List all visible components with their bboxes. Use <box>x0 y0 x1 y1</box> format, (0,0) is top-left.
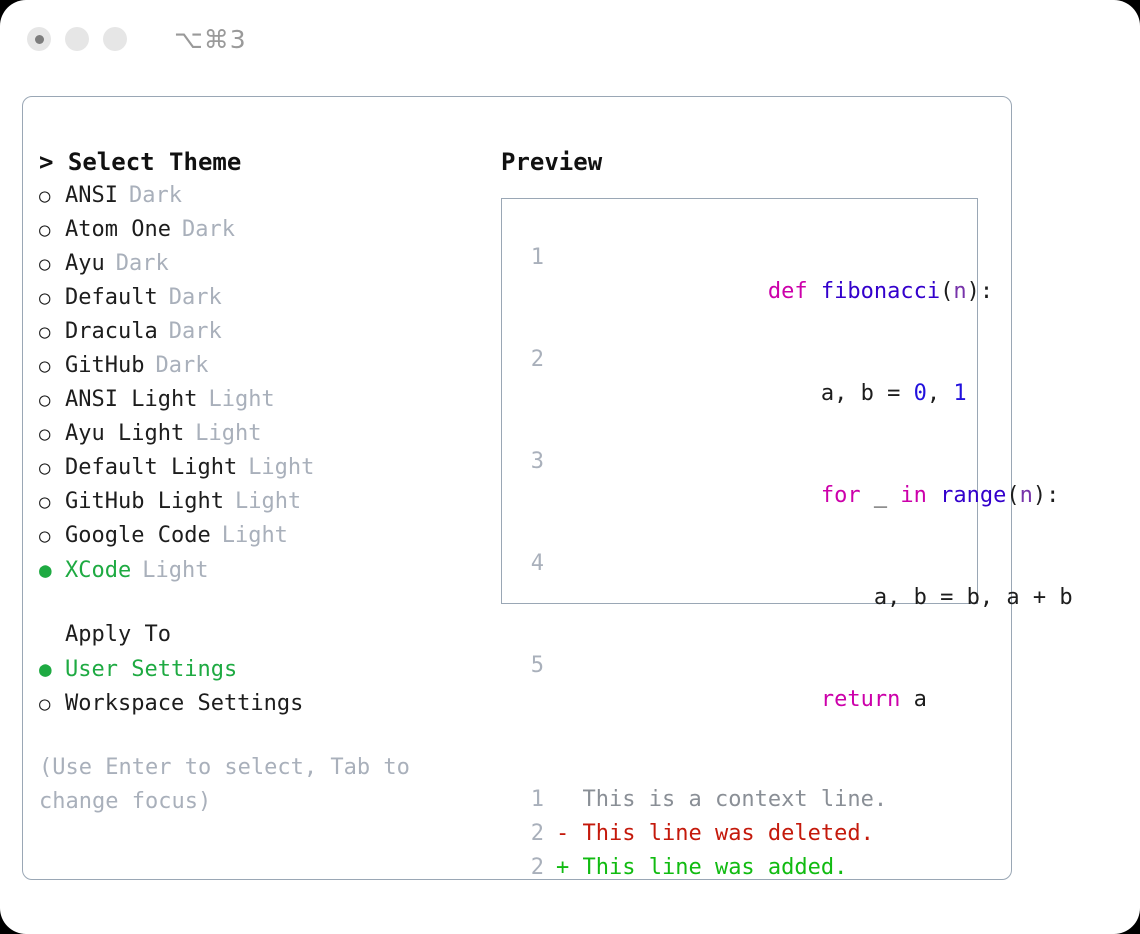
code-preview: 1 def fibonacci(n): 2 a, b = 0, 1 <box>516 241 969 885</box>
line-number: 5 <box>516 649 544 683</box>
preview-spacer <box>516 751 969 783</box>
theme-option-xcode[interactable]: ● XCode Light <box>39 553 489 588</box>
theme-option-ansi[interactable]: ○ ANSI Dark <box>39 179 489 213</box>
code-token: 1 <box>953 381 966 406</box>
theme-category: Dark <box>116 247 169 281</box>
radio-icon: ○ <box>39 519 65 553</box>
theme-name: Atom One <box>65 213 171 247</box>
theme-category: Dark <box>182 213 235 247</box>
code-token: in <box>900 483 927 508</box>
code-token: _ <box>861 483 901 508</box>
radio-icon: ○ <box>39 315 65 349</box>
apply-to-option-user-settings[interactable]: ● User Settings <box>39 652 489 687</box>
theme-option-github-light[interactable]: ○ GitHub Light Light <box>39 485 489 519</box>
theme-name: Dracula <box>65 315 158 349</box>
radio-icon: ○ <box>39 451 65 485</box>
app-window: ⌥⌘3 > Select Theme ○ ANSI Dark ○ Atom On… <box>0 0 1140 934</box>
radio-icon: ○ <box>39 349 65 383</box>
radio-icon: ○ <box>39 247 65 281</box>
theme-category: Light <box>235 485 301 519</box>
line-number: 4 <box>516 547 544 581</box>
theme-category: Light <box>195 417 261 451</box>
code-line: 5 return a <box>516 649 969 751</box>
theme-name: XCode <box>65 554 131 588</box>
theme-category: Light <box>222 519 288 553</box>
apply-to-option-workspace-settings[interactable]: ○ Workspace Settings <box>39 687 489 721</box>
code-token <box>927 483 940 508</box>
theme-name: ANSI <box>65 179 118 213</box>
code-line: 3 for _ in range(n): <box>516 445 969 547</box>
theme-category: Dark <box>129 179 182 213</box>
theme-name: Default <box>65 281 158 315</box>
radio-icon: ○ <box>39 417 65 451</box>
code-token: fibonacci <box>821 279 940 304</box>
code-token: a <box>900 687 927 712</box>
radio-icon: ○ <box>39 687 65 721</box>
main-panel: > Select Theme ○ ANSI Dark ○ Atom One Da… <box>22 96 1012 880</box>
apply-to-list: ● User Settings ○ Workspace Settings <box>39 652 489 721</box>
code-token: ( <box>940 279 953 304</box>
code-line: 2 a, b = 0, 1 <box>516 343 969 445</box>
theme-option-atom-one[interactable]: ○ Atom One Dark <box>39 213 489 247</box>
radio-selected-icon: ● <box>39 553 65 587</box>
theme-category: Light <box>142 554 208 588</box>
code-token: n <box>1020 483 1033 508</box>
diff-text: This is a context line. <box>569 787 887 812</box>
diff-line-deleted: 2 - This line was deleted. <box>516 817 969 851</box>
theme-list: ○ ANSI Dark ○ Atom One Dark ○ Ayu Dark <box>39 179 489 588</box>
preview-column: Preview 1 def fibonacci(n): 2 <box>501 145 991 604</box>
keyboard-hint-text: (Use Enter to select, Tab to change focu… <box>39 751 439 819</box>
theme-category: Dark <box>169 281 222 315</box>
diff-line-context: 1 This is a context line. <box>516 783 969 817</box>
code-token: def <box>768 279 821 304</box>
theme-option-ayu[interactable]: ○ Ayu Dark <box>39 247 489 281</box>
window-control-minimize[interactable] <box>65 27 89 51</box>
diff-text: This line was deleted. <box>569 821 874 846</box>
preview-box: 1 def fibonacci(n): 2 a, b = 0, 1 <box>501 198 978 604</box>
theme-name: ANSI Light <box>65 383 197 417</box>
code-token: n <box>953 279 966 304</box>
code-token <box>768 687 821 712</box>
diff-line-added: 2 + This line was added. <box>516 851 969 885</box>
code-token: for <box>821 483 861 508</box>
line-number: 1 <box>516 241 544 275</box>
line-number: 2 <box>516 817 544 851</box>
code-token <box>768 483 821 508</box>
theme-option-google-code[interactable]: ○ Google Code Light <box>39 519 489 553</box>
theme-name: Ayu Light <box>65 417 184 451</box>
diff-marker <box>556 787 569 812</box>
radio-icon: ○ <box>39 213 65 247</box>
code-token: a, b = b, a + b <box>768 585 1073 610</box>
theme-name: Google Code <box>65 519 211 553</box>
theme-option-default[interactable]: ○ Default Dark <box>39 281 489 315</box>
window-control-close[interactable] <box>27 27 51 51</box>
line-number: 2 <box>516 343 544 377</box>
theme-name: GitHub Light <box>65 485 224 519</box>
keyboard-shortcut-hint: ⌥⌘3 <box>174 27 247 52</box>
code-token: , <box>927 381 954 406</box>
code-token: a, b = <box>768 381 914 406</box>
code-token: ): <box>967 279 994 304</box>
theme-category: Dark <box>155 349 208 383</box>
radio-selected-icon: ● <box>39 652 65 686</box>
preview-title: Preview <box>501 145 991 179</box>
radio-icon: ○ <box>39 179 65 213</box>
line-number: 1 <box>516 783 544 817</box>
radio-icon: ○ <box>39 281 65 315</box>
code-token: ( <box>1006 483 1019 508</box>
window-control-maximize[interactable] <box>103 27 127 51</box>
radio-icon: ○ <box>39 485 65 519</box>
code-token: ): <box>1033 483 1060 508</box>
line-number: 2 <box>516 851 544 885</box>
theme-category: Light <box>208 383 274 417</box>
theme-name: GitHub <box>65 349 144 383</box>
diff-marker: + <box>556 855 569 880</box>
theme-name: Default Light <box>65 451 237 485</box>
code-line: 1 def fibonacci(n): <box>516 241 969 343</box>
theme-name: Ayu <box>65 247 105 281</box>
apply-to-label: Workspace Settings <box>65 687 303 721</box>
theme-option-ayu-light[interactable]: ○ Ayu Light Light <box>39 417 489 451</box>
theme-option-default-light[interactable]: ○ Default Light Light <box>39 451 489 485</box>
theme-option-ansi-light[interactable]: ○ ANSI Light Light <box>39 383 489 417</box>
select-theme-title: > Select Theme <box>39 145 489 179</box>
radio-icon: ○ <box>39 383 65 417</box>
code-line: 4 a, b = b, a + b <box>516 547 969 649</box>
theme-selector-column: > Select Theme ○ ANSI Dark ○ Atom One Da… <box>39 145 489 819</box>
theme-category: Dark <box>169 315 222 349</box>
code-token: 0 <box>914 381 927 406</box>
theme-category: Light <box>248 451 314 485</box>
apply-to-heading: Apply To <box>39 618 489 652</box>
window-controls <box>27 27 127 51</box>
title-bar: ⌥⌘3 <box>0 0 1140 78</box>
apply-to-label: User Settings <box>65 653 237 687</box>
line-number: 3 <box>516 445 544 479</box>
diff-text: This line was added. <box>569 855 847 880</box>
theme-option-github[interactable]: ○ GitHub Dark <box>39 349 489 383</box>
code-token: return <box>821 687 900 712</box>
code-token: range <box>940 483 1006 508</box>
theme-option-dracula[interactable]: ○ Dracula Dark <box>39 315 489 349</box>
diff-marker: - <box>556 821 569 846</box>
